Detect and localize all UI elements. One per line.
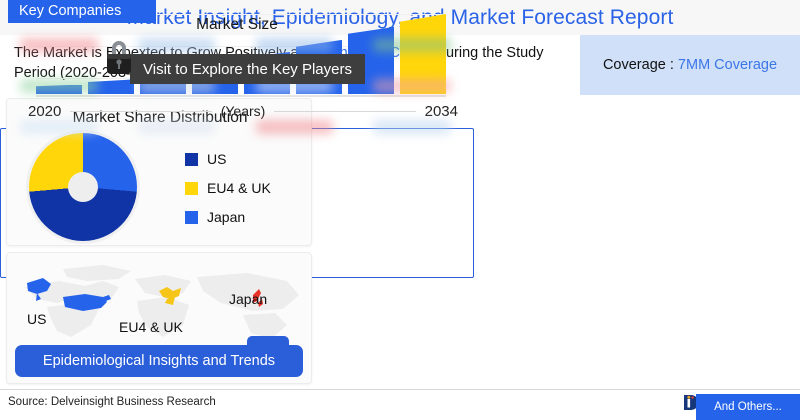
legend-swatch-japan [185, 211, 198, 224]
legend-label-eu4-uk: EU4 & UK [207, 180, 271, 196]
legend-item-us: US [185, 151, 305, 167]
company-logo-grid [0, 128, 471, 148]
epidemiology-map-card: US EU4 & UK Japan Epidemiological Insigh… [6, 252, 312, 384]
legend-label-us: US [207, 151, 226, 167]
company-logo-placeholder [138, 128, 216, 134]
report-infographic: Market Insight, Epidemiology, and Market… [0, 0, 800, 420]
legend-swatch-eu4-uk [185, 182, 198, 195]
coverage-value: 7MM Coverage [678, 57, 777, 73]
map-label-japan: Japan [229, 291, 267, 307]
coverage-panel: Coverage : 7MM Coverage [580, 35, 800, 95]
legend-swatch-us [185, 153, 198, 166]
epidemiological-insights-banner[interactable]: Epidemiological Insights and Trends [15, 345, 303, 377]
map-label-eu4-uk: EU4 & UK [119, 319, 183, 335]
epidemiological-insights-label: Epidemiological Insights and Trends [43, 353, 275, 369]
map-label-us: US [27, 311, 46, 327]
company-logo-placeholder [256, 128, 334, 134]
footer-divider [0, 389, 800, 390]
legend-item-eu4-uk: EU4 & UK [185, 180, 305, 196]
source-text: Source: Delveinsight Business Research [8, 396, 216, 408]
company-logo-placeholder [20, 128, 98, 134]
company-logo-placeholder [373, 128, 451, 134]
coverage-label: Coverage : [603, 57, 678, 73]
market-share-donut-chart [29, 133, 137, 241]
banner-tab [247, 336, 289, 350]
donut-hole [68, 172, 98, 202]
legend-label-japan: Japan [207, 209, 245, 225]
market-share-legend: US EU4 & UK Japan [185, 151, 305, 238]
legend-item-japan: Japan [185, 209, 305, 225]
